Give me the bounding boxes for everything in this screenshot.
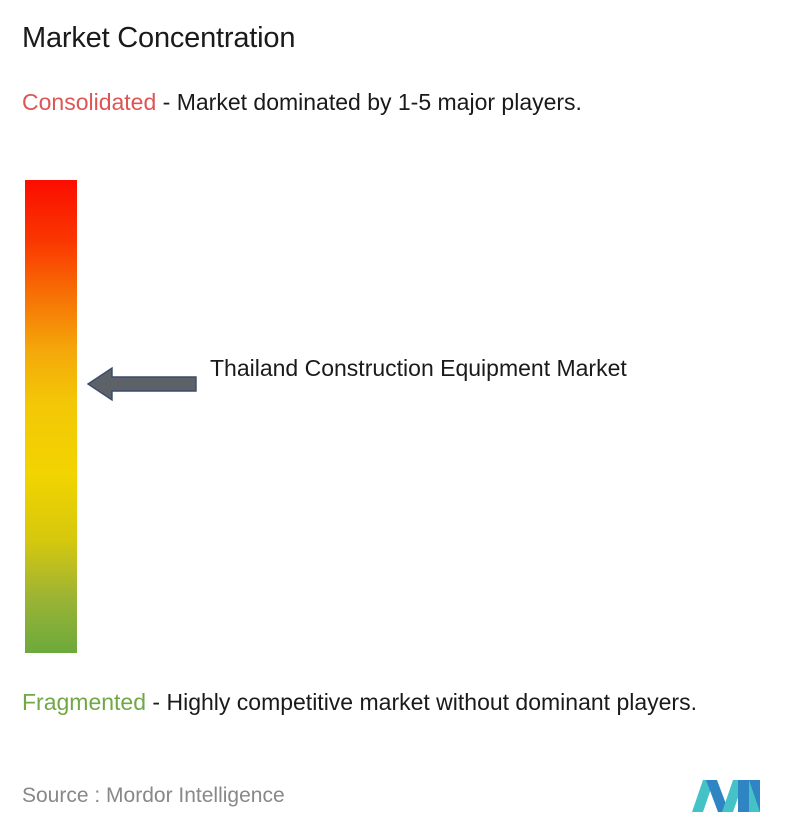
legend-fragmented-separator: - [146,689,166,715]
page-title: Market Concentration [22,20,295,56]
legend-fragmented: Fragmented - Highly competitive market w… [22,686,788,718]
legend-consolidated-description: Market dominated by 1-5 major players. [177,89,582,115]
legend-consolidated-separator: - [156,89,176,115]
legend-consolidated-term: Consolidated [22,89,156,115]
legend-fragmented-term: Fragmented [22,689,146,715]
legend-fragmented-description: Highly competitive market without domina… [166,689,697,715]
market-marker-label: Thailand Construction Equipment Market [210,350,640,386]
market-position-marker: Thailand Construction Equipment Market [86,350,646,420]
concentration-gradient-svg [25,180,77,653]
left-arrow-icon [86,364,198,404]
source-attribution: Source : Mordor Intelligence [22,782,285,810]
legend-consolidated: Consolidated - Market dominated by 1-5 m… [22,86,774,118]
mordor-intelligence-logo [692,768,770,816]
concentration-gradient-bar [25,180,77,653]
